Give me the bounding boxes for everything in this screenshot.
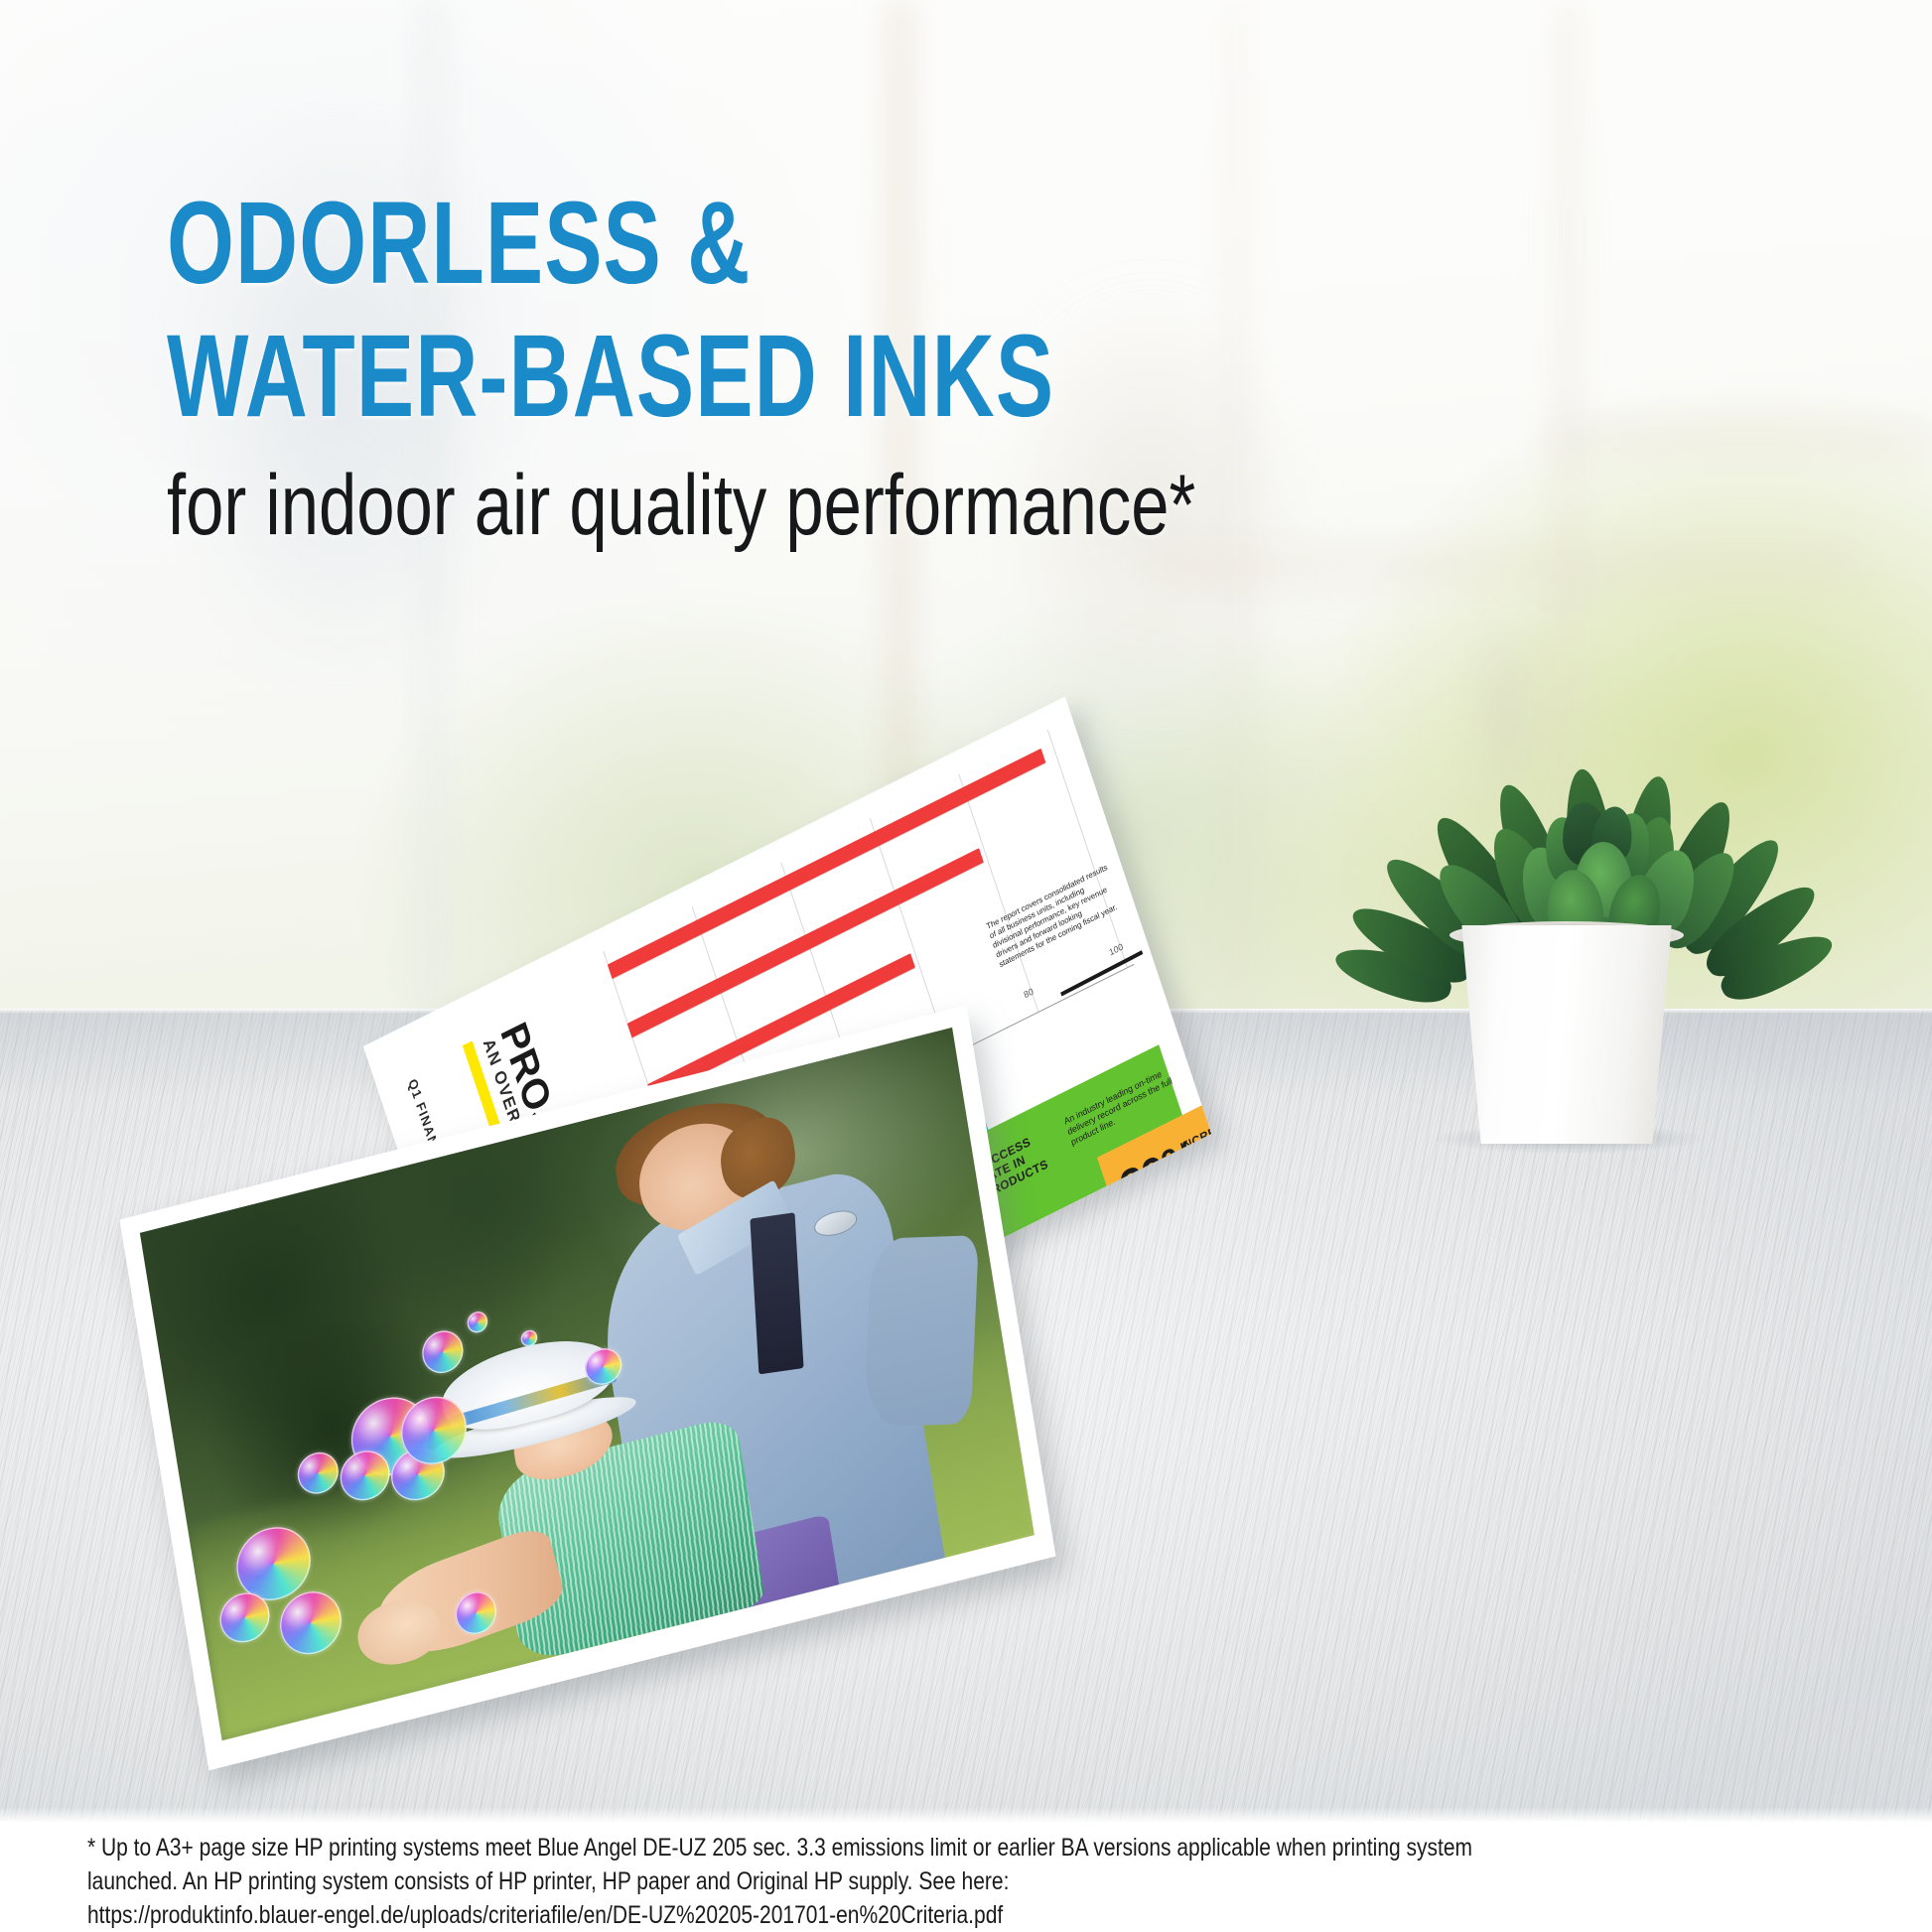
ceramic-pot (1448, 925, 1686, 1144)
footnote-line-1: * Up to A3+ page size HP printing system… (87, 1831, 1581, 1864)
succulent-plant (1390, 695, 1807, 1191)
headline-block: ODORLESS & WATER-BASED INKS for indoor a… (167, 185, 1577, 550)
footnote-line-3: https://produktinfo.blauer-engel.de/uplo… (87, 1898, 1581, 1932)
woman-arm (864, 1235, 979, 1427)
blurred-shelf-1 (1162, 556, 1857, 590)
headline-line-2: WATER-BASED INKS (167, 318, 1210, 435)
headline-line-1: ODORLESS & (167, 185, 1210, 302)
footnote-line-2: launched. An HP printing system consists… (87, 1864, 1581, 1898)
blurred-shelf-2 (1549, 427, 1932, 457)
promo-banner: ODORLESS & WATER-BASED INKS for indoor a… (0, 0, 1932, 1932)
footnote-block: * Up to A3+ page size HP printing system… (87, 1831, 1581, 1932)
subheadline: for indoor air quality performance* (167, 461, 1295, 550)
